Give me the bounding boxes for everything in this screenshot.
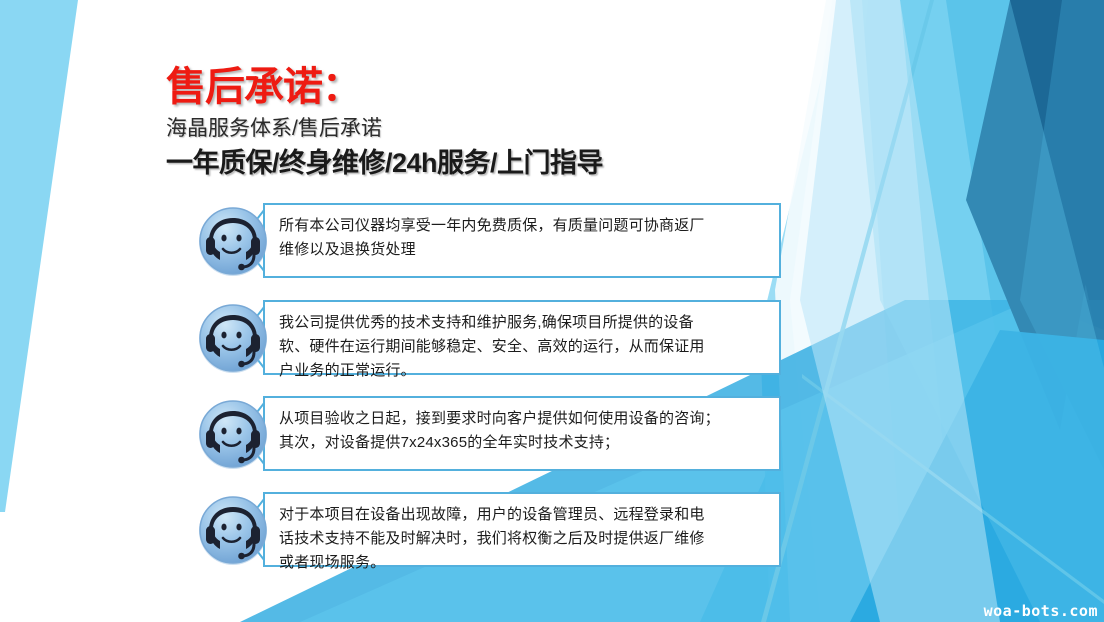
- headset-support-avatar-icon: [196, 397, 270, 471]
- bg-left-wedge: [0, 0, 78, 512]
- breadcrumb: 海晶服务体系/售后承诺: [166, 114, 603, 144]
- list-item-text: 对于本项目在设备出现故障，用户的设备管理员、远程登录和电 话技术支持不能及时解决…: [265, 494, 779, 583]
- slide-canvas: 售后承诺： 海晶服务体系/售后承诺 一年质保/终身维修/24h服务/上门指导 所…: [0, 0, 1104, 622]
- headset-support-avatar-icon: [196, 493, 270, 567]
- list-item-text: 从项目验收之日起，接到要求时向客户提供如何使用设备的咨询； 其次，对设备提供7x…: [265, 398, 779, 463]
- list-item-text: 所有本公司仪器均享受一年内免费质保，有质量问题可协商返厂 维修以及退换货处理: [265, 205, 779, 270]
- list-item-text: 我公司提供优秀的技术支持和维护服务,确保项目所提供的设备 软、硬件在运行期间能够…: [265, 302, 779, 391]
- callout-box: 所有本公司仪器均享受一年内免费质保，有质量问题可协商返厂 维修以及退换货处理: [263, 203, 781, 278]
- page-subtitle: 一年质保/终身维修/24h服务/上门指导: [166, 146, 603, 180]
- headset-support-avatar-icon: [196, 301, 270, 375]
- callout-box: 从项目验收之日起，接到要求时向客户提供如何使用设备的咨询； 其次，对设备提供7x…: [263, 396, 781, 471]
- header-block: 售后承诺： 海晶服务体系/售后承诺 一年质保/终身维修/24h服务/上门指导: [166, 64, 603, 180]
- headset-support-avatar-icon: [196, 204, 270, 278]
- page-title: 售后承诺：: [166, 64, 603, 110]
- callout-box: 我公司提供优秀的技术支持和维护服务,确保项目所提供的设备 软、硬件在运行期间能够…: [263, 300, 781, 375]
- watermark-text: woa-bots.com: [984, 602, 1098, 620]
- callout-box: 对于本项目在设备出现故障，用户的设备管理员、远程登录和电 话技术支持不能及时解决…: [263, 492, 781, 567]
